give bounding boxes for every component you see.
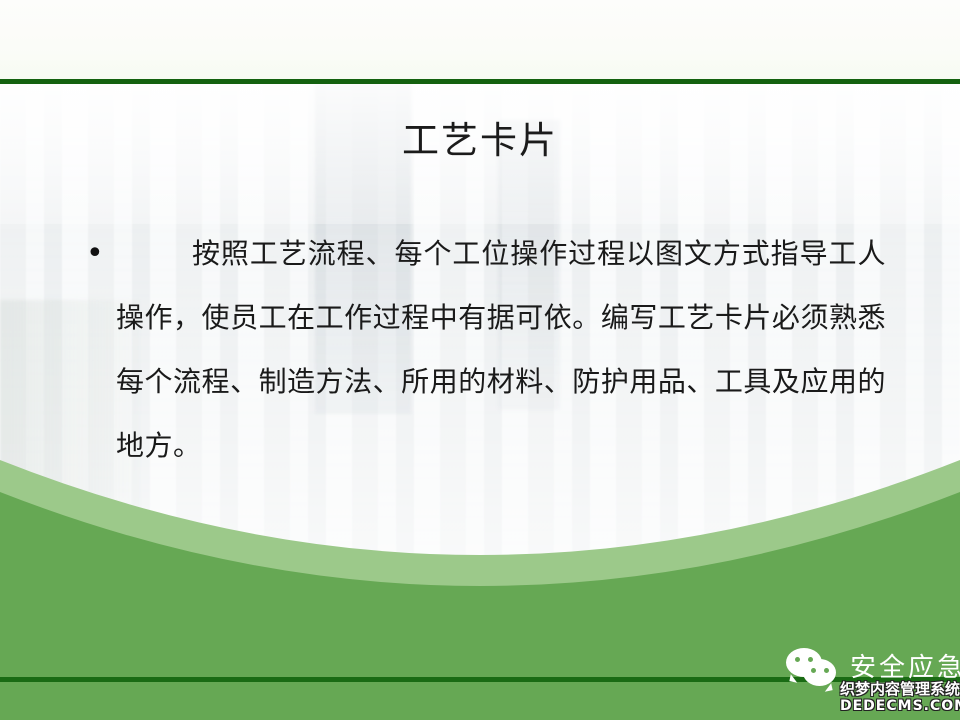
site-watermark: 织梦内容管理系统 DEDECMS.COM [840,682,960,713]
header-band [0,0,960,79]
header-divider-rule [0,79,960,84]
wechat-eye-icon [824,668,829,673]
wechat-account-name: 安全应急 [850,655,960,681]
presentation-slide: 工艺卡片 • 按照工艺流程、每个工位操作过程以图文方式指导工人操作，使员工在工作… [0,0,960,720]
wechat-bubble-front-icon [803,659,836,686]
watermark-chinese-text: 织梦内容管理系统 [840,682,960,698]
green-footer-fill [0,700,960,720]
wechat-eye-icon [808,657,813,662]
wechat-eye-icon [795,657,800,662]
wechat-eye-icon [811,668,816,673]
slide-title: 工艺卡片 [0,118,960,164]
wechat-logo-icon [786,648,842,688]
watermark-domain-text: DEDECMS.COM [840,699,960,714]
bullet-marker-icon: • [86,222,116,286]
